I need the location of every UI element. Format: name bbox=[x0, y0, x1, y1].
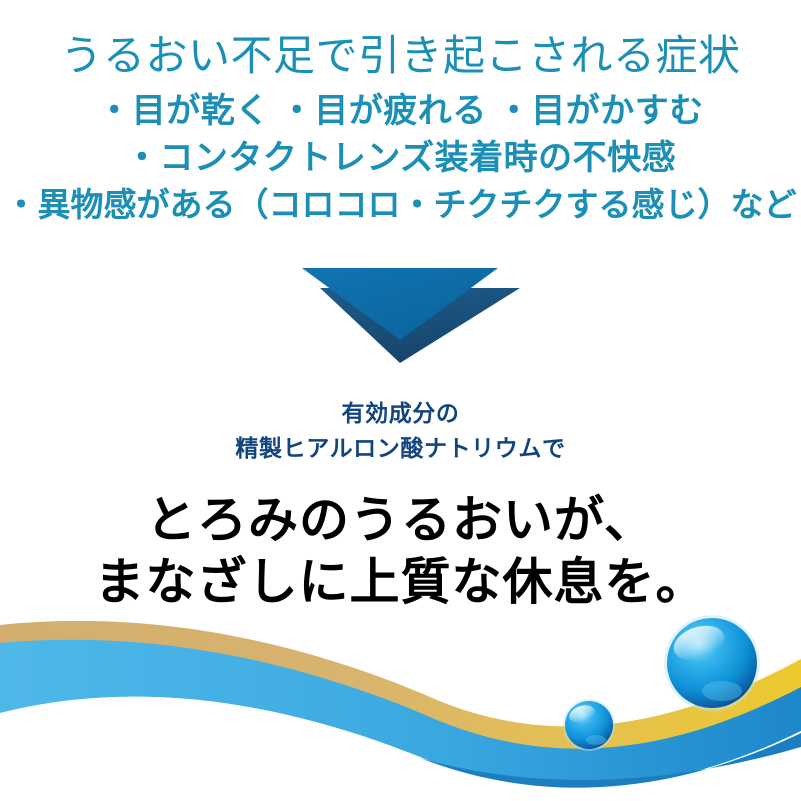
droplet-small bbox=[563, 699, 615, 751]
wave-ribbon-graphic bbox=[0, 601, 801, 801]
symptom-item: ・異物感がある（コロコロ・チクチクする感じ）など bbox=[0, 182, 801, 228]
headline-section: とろみのうるおいが、 まなざしに上質な休息を。 bbox=[0, 489, 801, 613]
double-chevron-down-icon bbox=[0, 258, 801, 378]
ingredient-line: 有効成分の bbox=[0, 396, 801, 431]
headline-line: とろみのうるおいが、 bbox=[0, 489, 801, 551]
advertisement-panel: うるおい不足で引き起こされる症状 ・目が乾く ・目が疲れる ・目がかすむ ・コン… bbox=[0, 0, 801, 801]
ingredient-line: 精製ヒアルロン酸ナトリウムで bbox=[0, 431, 801, 466]
wave-svg bbox=[0, 601, 801, 801]
symptom-item: ・コンタクトレンズ装着時の不快感 bbox=[0, 135, 801, 182]
symptom-section: うるおい不足で引き起こされる症状 ・目が乾く ・目が疲れる ・目がかすむ ・コン… bbox=[0, 0, 801, 228]
arrow-container bbox=[0, 258, 801, 378]
symptom-item: ・目が乾く ・目が疲れる ・目がかすむ bbox=[0, 88, 801, 135]
symptom-title: うるおい不足で引き起こされる症状 bbox=[0, 0, 801, 79]
ingredient-section: 有効成分の 精製ヒアルロン酸ナトリウムで bbox=[0, 396, 801, 466]
droplet-large bbox=[664, 615, 760, 711]
symptom-list: ・目が乾く ・目が疲れる ・目がかすむ ・コンタクトレンズ装着時の不快感 ・異物… bbox=[0, 88, 801, 227]
